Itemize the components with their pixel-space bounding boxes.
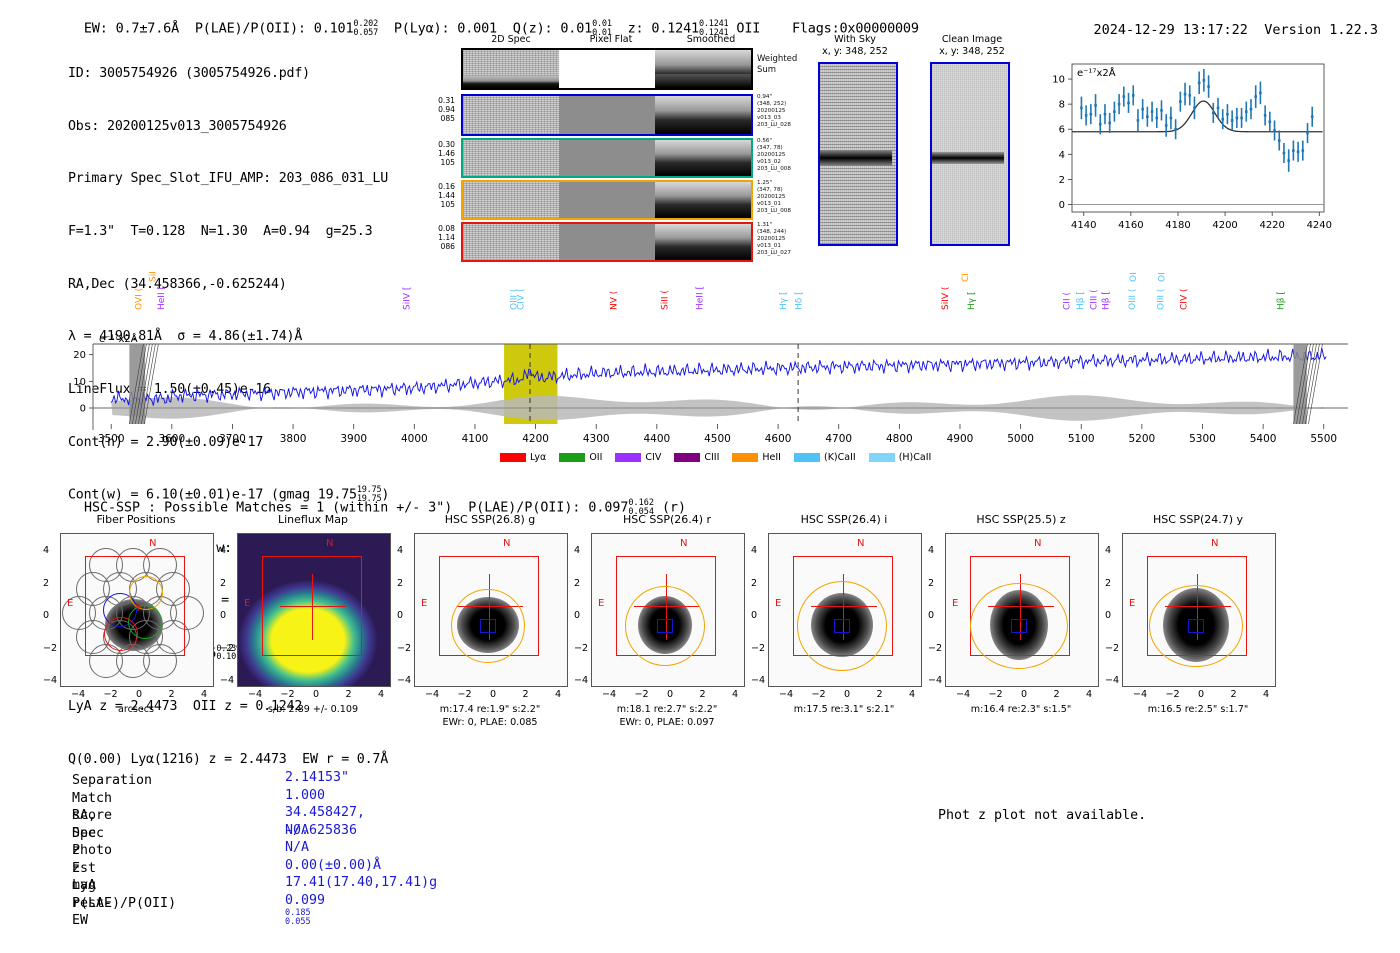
imaging-panel-5[interactable]: NE	[945, 533, 1099, 687]
y-tick-label: 4	[397, 545, 403, 556]
emission-line-label: SiIV (	[149, 272, 159, 282]
svg-text:3500: 3500	[98, 433, 125, 445]
compass-north: N	[1211, 538, 1218, 549]
y-tick-label: 0	[928, 610, 934, 621]
header-timestamp: 2024-12-29 13:17:22	[1094, 22, 1248, 38]
y-tick-label: 2	[43, 578, 49, 589]
y-tick-label: 4	[1105, 545, 1111, 556]
imaging-panel-title: HSC SSP(24.7) y	[1093, 513, 1303, 526]
x-tick-label: −2	[635, 689, 649, 700]
svg-text:Hβ [: Hβ [	[1276, 291, 1286, 310]
emission-line-label: OIII (	[1157, 272, 1167, 282]
svg-text:SiIV (: SiIV (	[149, 272, 159, 282]
x-tick-label: −4	[1133, 689, 1147, 700]
svg-text:3800: 3800	[280, 433, 307, 445]
svg-text:10: 10	[73, 377, 86, 388]
emission-line-label: CIII (	[961, 272, 971, 282]
table-value: 0.00(±0.00)Å	[285, 857, 381, 875]
compass-east: E	[244, 598, 250, 609]
emission-line-label: HeII [	[695, 286, 705, 310]
svg-text:e⁻¹⁷x2Å: e⁻¹⁷x2Å	[99, 332, 138, 345]
svg-text:5300: 5300	[1189, 433, 1216, 445]
x-tick-label: −2	[104, 689, 118, 700]
compass-east: E	[1129, 598, 1135, 609]
svg-text:OIII (: OIII (	[509, 289, 519, 310]
table-value: 17.41(17.40,17.41)g	[285, 874, 437, 892]
legend-item: Lyα	[500, 452, 546, 463]
catalog-match-box	[1011, 619, 1027, 633]
y-tick-label: 0	[574, 610, 580, 621]
table-value: N/A	[285, 822, 309, 840]
y-tick-label: 0	[751, 610, 757, 621]
full-spectrum-chart: 0102035003600370038003900400041004200430…	[60, 272, 1350, 467]
x-tick-label: 2	[1231, 689, 1237, 700]
svg-text:4140: 4140	[1071, 220, 1096, 231]
svg-text:4200: 4200	[522, 433, 549, 445]
x-tick-label: 4	[1086, 689, 1092, 700]
x-tick-label: −4	[602, 689, 616, 700]
svg-text:4000: 4000	[401, 433, 428, 445]
emission-line-label: OIII (	[1156, 289, 1166, 310]
emission-line-label: SiIV (	[941, 287, 951, 310]
emission-line-label: Hγ [	[779, 292, 789, 310]
svg-text:4800: 4800	[886, 433, 913, 445]
x-tick-label: 4	[732, 689, 738, 700]
y-tick-label: 4	[751, 545, 757, 556]
legend-swatch	[794, 453, 820, 462]
svg-text:2: 2	[1059, 175, 1065, 186]
svg-text:NV (: NV (	[609, 291, 619, 310]
svg-text:5500: 5500	[1310, 433, 1337, 445]
x-tick-label: −4	[71, 689, 85, 700]
line-zoom-spectrum-chart: 0246810414041604180420042204240e⁻¹⁷x2Å	[1032, 52, 1332, 257]
svg-text:CIII (: CIII (	[1090, 289, 1100, 310]
col-title-pixelflat: Pixel Flat	[561, 34, 661, 45]
imaging-panel-4[interactable]: NE	[768, 533, 922, 687]
fiber-row-1-right-labels: 0.94"(348, 252)20200125v013_03203_LU_028	[757, 94, 791, 129]
compass-north: N	[1034, 538, 1041, 549]
x-tick-label: 4	[201, 689, 207, 700]
with-sky-title: With Skyx, y: 348, 252	[800, 34, 910, 58]
y-tick-label: −2	[1105, 643, 1119, 654]
legend-swatch	[869, 453, 895, 462]
x-tick-label: 2	[1054, 689, 1060, 700]
obs-line: Obs: 20200125v013_3005754926	[68, 118, 389, 136]
legend-item: HeII	[732, 452, 781, 463]
header-timestamp-version: 2024-12-29 13:17:22 Version 1.22.3	[1077, 6, 1378, 38]
clean-image-dark-streak	[932, 152, 1004, 164]
svg-text:4180: 4180	[1165, 220, 1190, 231]
x-tick-label: −2	[281, 689, 295, 700]
legend-swatch	[732, 453, 758, 462]
legend-label: (H)CaII	[899, 452, 932, 463]
compass-east: E	[775, 598, 781, 609]
quality-line: Q(0.00) Lyα(1216) z = 2.4473 EW r = 0.7Å	[68, 751, 389, 769]
x-tick-label: 0	[844, 689, 850, 700]
svg-text:CII (: CII (	[1062, 292, 1072, 310]
svg-text:4220: 4220	[1259, 220, 1284, 231]
y-tick-label: −2	[397, 643, 411, 654]
svg-text:20: 20	[73, 350, 86, 361]
svg-text:0: 0	[80, 404, 86, 415]
imaging-panel-0[interactable]: +NE	[60, 533, 214, 687]
x-tick-label: 0	[1021, 689, 1027, 700]
svg-text:4400: 4400	[643, 433, 670, 445]
svg-text:OIII (: OIII (	[1157, 272, 1167, 282]
emission-line-label: OIII (	[1128, 289, 1138, 310]
col-title-2dspec: 2D Spec	[461, 34, 561, 45]
y-tick-label: 4	[928, 545, 934, 556]
y-tick-label: 2	[220, 578, 226, 589]
table-key: Separation	[72, 772, 152, 790]
x-tick-label: −4	[779, 689, 793, 700]
legend-item: (H)CaII	[869, 452, 932, 463]
compass-north: N	[503, 538, 510, 549]
svg-text:OIII (: OIII (	[1128, 289, 1138, 310]
compass-east: E	[421, 598, 427, 609]
svg-text:HeII [: HeII [	[695, 286, 705, 310]
table-value: N/A	[285, 839, 309, 857]
y-tick-label: 4	[220, 545, 226, 556]
catalog-match-box	[480, 619, 496, 633]
fiber-row-1-left-labels: 0.310.94085	[419, 96, 455, 124]
legend-label: CIV	[645, 452, 661, 463]
header-version: Version 1.22.3	[1264, 22, 1378, 38]
y-tick-label: 2	[751, 578, 757, 589]
emission-line-label: Hδ [	[794, 291, 804, 310]
svg-text:SiII (: SiII (	[660, 290, 670, 310]
legend-item: (K)CaII	[794, 452, 856, 463]
svg-text:5200: 5200	[1128, 433, 1155, 445]
x-tick-label: −2	[458, 689, 472, 700]
fiber-row-4-left-labels: 0.081.14086	[419, 224, 455, 252]
emission-line-label: SiII (	[660, 290, 670, 310]
svg-text:e⁻¹⁷x2Å: e⁻¹⁷x2Å	[1077, 66, 1116, 79]
fiber-row-2-right-labels: 0.56"(347, 78)20200125v013_02203_LU_008	[757, 138, 791, 173]
y-tick-label: 0	[43, 610, 49, 621]
emission-line-label: HeII [	[157, 286, 167, 310]
fiber-row-3-left-labels: 0.161.44105	[419, 182, 455, 210]
with-sky-dark-streak	[820, 150, 892, 166]
svg-text:CIII (: CIII (	[961, 272, 971, 282]
y-tick-label: 0	[220, 610, 226, 621]
svg-text:3600: 3600	[158, 433, 185, 445]
legend-item: CIV	[615, 452, 661, 463]
compass-north: N	[149, 538, 156, 549]
y-tick-label: 4	[43, 545, 49, 556]
legend-item: OII	[559, 452, 602, 463]
compass-east: E	[67, 598, 73, 609]
compass-east: E	[598, 598, 604, 609]
x-tick-label: −4	[425, 689, 439, 700]
svg-text:4240: 4240	[1307, 220, 1332, 231]
svg-text:5100: 5100	[1068, 433, 1095, 445]
svg-text:3700: 3700	[219, 433, 246, 445]
x-tick-label: −2	[1166, 689, 1180, 700]
svg-text:Hδ [: Hδ [	[794, 291, 804, 310]
svg-text:4200: 4200	[1212, 220, 1237, 231]
y-tick-label: 4	[574, 545, 580, 556]
compass-east: E	[952, 598, 958, 609]
svg-text:10: 10	[1052, 75, 1065, 86]
y-tick-label: 0	[397, 610, 403, 621]
x-tick-label: 0	[313, 689, 319, 700]
emission-line-label: CIII (	[1090, 289, 1100, 310]
y-tick-label: 2	[574, 578, 580, 589]
imaging-panel-caption-2: EWr: 0, PLAE: 0.097	[552, 716, 782, 729]
svg-text:5000: 5000	[1007, 433, 1034, 445]
legend-label: Lyα	[530, 452, 546, 463]
x-tick-label: 0	[136, 689, 142, 700]
x-tick-label: 0	[1198, 689, 1204, 700]
y-tick-label: −2	[751, 643, 765, 654]
table-value: 1.000	[285, 787, 325, 805]
y-tick-label: −2	[928, 643, 942, 654]
hsc-ssp-header: HSC-SSP : Possible Matches = 1 (within +…	[68, 484, 686, 516]
y-tick-label: 2	[1105, 578, 1111, 589]
x-tick-label: 4	[555, 689, 561, 700]
svg-text:CIV (: CIV (	[1179, 289, 1189, 310]
svg-text:4600: 4600	[765, 433, 792, 445]
emission-line-label: Hβ [	[1076, 291, 1086, 310]
svg-text:Hβ [: Hβ [	[1076, 291, 1086, 310]
svg-text:4700: 4700	[825, 433, 852, 445]
imaging-panel-1[interactable]: NE	[237, 533, 391, 687]
svg-text:SiIV (: SiIV (	[941, 287, 951, 310]
imaging-panel-6[interactable]: NE	[1122, 533, 1276, 687]
legend-swatch	[559, 453, 585, 462]
svg-text:HeII [: HeII [	[157, 286, 167, 310]
fiber-row-2-left-labels: 0.301.46105	[419, 140, 455, 168]
imaging-panel-caption: m:16.5 re:2.5" s:1.7"	[1083, 703, 1313, 716]
table-value: 2.14153"	[285, 769, 349, 787]
emission-line-label: Hγ [	[967, 292, 977, 310]
svg-text:Hβ [: Hβ [	[1102, 291, 1112, 310]
emission-line-legend: LyαOIICIVCIIIHeII(K)CaII(H)CaII	[500, 452, 931, 463]
x-tick-label: −4	[248, 689, 262, 700]
x-tick-label: −4	[956, 689, 970, 700]
legend-swatch	[500, 453, 526, 462]
catalog-match-box	[1188, 619, 1204, 633]
x-tick-label: 2	[169, 689, 175, 700]
y-tick-label: 2	[397, 578, 403, 589]
fiber-row-4	[461, 222, 753, 262]
svg-text:4160: 4160	[1118, 220, 1143, 231]
emission-line-label: NV (	[609, 291, 619, 310]
table-key: mag	[72, 877, 96, 895]
y-tick-label: −4	[1105, 675, 1119, 686]
fiber-row-2	[461, 138, 753, 178]
x-tick-label: 2	[346, 689, 352, 700]
seeing-line: F=1.3" T=0.128 N=1.30 A=0.94 g=25.3	[68, 223, 389, 241]
svg-text:3900: 3900	[340, 433, 367, 445]
svg-text:Hγ [: Hγ [	[779, 292, 789, 310]
x-tick-label: −2	[812, 689, 826, 700]
y-tick-label: −4	[928, 675, 942, 686]
twod-spec-grid: 2D Spec Pixel Flat Smoothed Weighted Sum…	[461, 34, 761, 254]
emission-line-label: CIV (	[1179, 289, 1189, 310]
legend-swatch	[674, 453, 700, 462]
y-tick-label: 2	[928, 578, 934, 589]
svg-text:OVI (: OVI (	[135, 288, 145, 310]
imaging-panel-2[interactable]: NE	[414, 533, 568, 687]
primary-spec-line: Primary Spec_Slot_IFU_AMP: 203_086_031_L…	[68, 170, 389, 188]
compass-north: N	[326, 538, 333, 549]
target-marker: +	[133, 600, 143, 614]
table-key: P(LAE)/P(OII)	[72, 895, 176, 913]
photoz-note: Phot z plot not available.	[938, 808, 1146, 823]
svg-text:8: 8	[1059, 100, 1065, 111]
x-tick-label: 0	[667, 689, 673, 700]
svg-text:5400: 5400	[1250, 433, 1277, 445]
emission-line-label: Hβ [	[1102, 291, 1112, 310]
svg-text:4900: 4900	[947, 433, 974, 445]
x-tick-label: 4	[1263, 689, 1269, 700]
legend-item: CIII	[674, 452, 719, 463]
emission-line-label: Hβ [	[1276, 291, 1286, 310]
legend-swatch	[615, 453, 641, 462]
fiber-row-4-right-labels: 1.31"(348, 244)20200125v013_01203_LU_027	[757, 222, 791, 257]
y-tick-label: −2	[43, 643, 57, 654]
emission-line-label: CII (	[1062, 292, 1072, 310]
compass-north: N	[680, 538, 687, 549]
svg-text:4500: 4500	[704, 433, 731, 445]
x-tick-label: 2	[523, 689, 529, 700]
y-tick-label: −4	[43, 675, 57, 686]
svg-text:Hγ [: Hγ [	[967, 292, 977, 310]
legend-label: HeII	[762, 452, 781, 463]
svg-text:6: 6	[1059, 125, 1065, 136]
svg-text:OIII (: OIII (	[1156, 289, 1166, 310]
y-tick-label: −4	[574, 675, 588, 686]
table-plae-range: 0.1850.055	[285, 909, 311, 926]
svg-text:OIII (: OIII (	[1129, 272, 1139, 282]
id-line: ID: 3005754926 (3005754926.pdf)	[68, 65, 389, 83]
table-value: 0.099 0.1850.055	[285, 892, 325, 928]
fiber-row-3	[461, 180, 753, 220]
y-tick-label: −4	[397, 675, 411, 686]
svg-text:4300: 4300	[583, 433, 610, 445]
x-tick-label: 2	[877, 689, 883, 700]
weighted-sum-label: Weighted Sum	[757, 54, 797, 75]
svg-text:SiIV [: SiIV [	[403, 287, 413, 310]
y-tick-label: −2	[574, 643, 588, 654]
imaging-panel-3[interactable]: NE	[591, 533, 745, 687]
catalog-match-box	[834, 619, 850, 633]
x-tick-label: 4	[378, 689, 384, 700]
y-tick-label: −2	[220, 643, 234, 654]
y-tick-label: −4	[751, 675, 765, 686]
y-tick-label: −4	[220, 675, 234, 686]
fiber-row-3-right-labels: 1.25"(347, 78)20200125v013_01203_LU_008	[757, 180, 791, 215]
emission-line-label: OIII (	[509, 289, 519, 310]
x-tick-label: 2	[700, 689, 706, 700]
legend-label: CIII	[704, 452, 719, 463]
svg-text:4: 4	[1059, 150, 1065, 161]
compass-north: N	[857, 538, 864, 549]
emission-line-label: OVI (	[135, 288, 145, 310]
x-tick-label: 4	[909, 689, 915, 700]
legend-label: (K)CaII	[824, 452, 856, 463]
svg-text:0: 0	[1059, 200, 1065, 211]
catalog-match-box	[657, 619, 673, 633]
svg-text:4100: 4100	[462, 433, 489, 445]
x-tick-label: 0	[490, 689, 496, 700]
emission-line-label: OIII (	[1129, 272, 1139, 282]
y-tick-label: 0	[1105, 610, 1111, 621]
fiber-row-1	[461, 94, 753, 136]
col-title-smoothed: Smoothed	[661, 34, 761, 45]
clean-image-title: Clean Imagex, y: 348, 252	[912, 34, 1032, 58]
emission-line-label: SiIV [	[403, 287, 413, 310]
legend-label: OII	[589, 452, 602, 463]
x-tick-label: −2	[989, 689, 1003, 700]
